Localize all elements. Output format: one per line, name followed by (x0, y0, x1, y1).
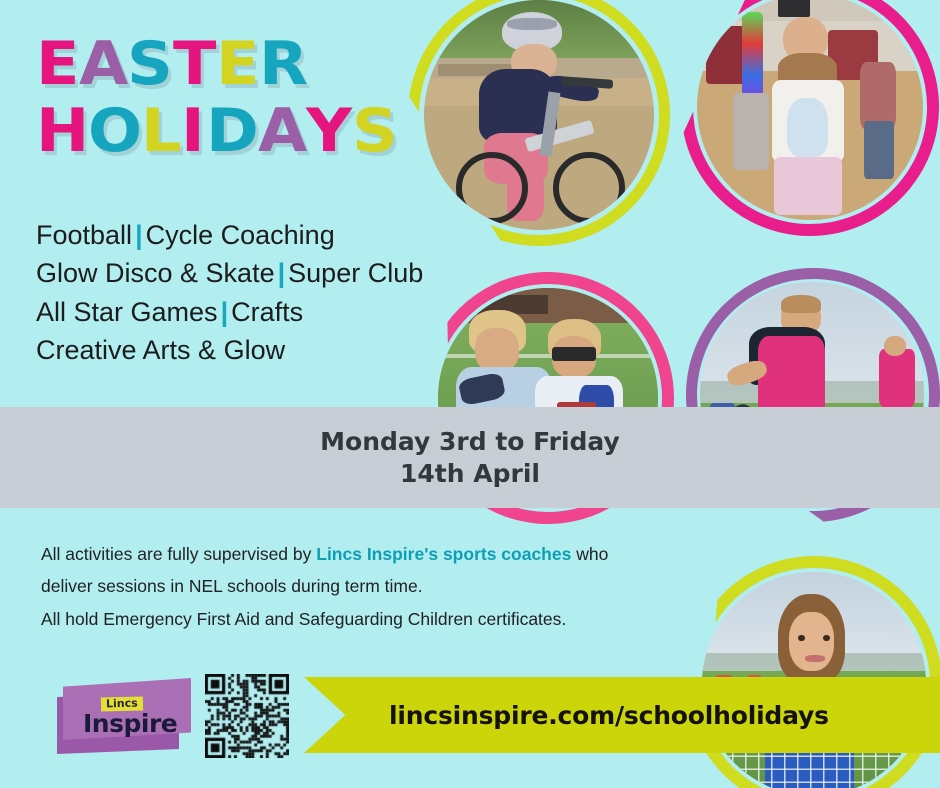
lincs-inspire-logo[interactable]: Lincs Inspire (57, 676, 192, 756)
activity-item: Football (36, 220, 132, 250)
logo-text-inspire: Inspire (83, 709, 177, 738)
date-line-2: 14th April (260, 458, 680, 490)
title-letter-r-5: R (259, 36, 310, 93)
activity-item: Crafts (231, 297, 303, 327)
activity-line-1: Football|Cycle Coaching (36, 216, 466, 254)
url-text: lincsinspire.com/schoolholidays (389, 701, 829, 730)
url-banner[interactable]: lincsinspire.com/schoolholidays (304, 677, 940, 753)
title-line-holidays: HOLIDAYS (36, 103, 416, 160)
poster-title: EASTER HOLIDAYS (36, 36, 416, 160)
activity-line-2: Glow Disco & Skate|Super Club (36, 254, 466, 292)
supervision-text: All activities are fully supervised by L… (41, 538, 681, 635)
activity-item: Cycle Coaching (146, 220, 335, 250)
activity-separator: | (275, 258, 289, 288)
title-letter-a-5: A (258, 103, 309, 160)
supervision-line-2: deliver sessions in NEL schools during t… (41, 570, 681, 602)
qr-code[interactable] (205, 674, 289, 758)
activity-item: All Star Games (36, 297, 218, 327)
activity-line-4: Creative Arts & Glow (36, 331, 466, 369)
easter-holidays-poster: EASTER HOLIDAYS Football|Cycle CoachingG… (0, 0, 940, 788)
supervision-line-1: All activities are fully supervised by L… (41, 538, 681, 570)
activity-line-3: All Star Games|Crafts (36, 293, 466, 331)
title-letter-o-1: O (88, 103, 144, 160)
activity-item: Glow Disco & Skate (36, 258, 275, 288)
title-letter-s-7: S (352, 103, 400, 160)
title-line-easter: EASTER (36, 36, 416, 93)
supervision-line-1-after: who (571, 544, 608, 564)
activity-separator: | (218, 297, 232, 327)
title-letter-i-3: I (181, 103, 207, 160)
photo-cycling (424, 0, 654, 230)
title-letter-h-0: H (36, 103, 91, 160)
title-letter-y-6: Y (306, 103, 354, 160)
date-band: Monday 3rd to Friday 14th April (0, 407, 940, 508)
title-letter-d-4: D (206, 103, 261, 160)
photo-glow-disco (697, 0, 923, 220)
supervision-line-1-before: All activities are fully supervised by (41, 544, 316, 564)
title-letter-a-1: A (79, 36, 130, 93)
activity-item: Creative Arts & Glow (36, 335, 285, 365)
activity-separator: | (132, 220, 146, 250)
title-letter-e-4: E (216, 36, 262, 93)
supervision-line-3: All hold Emergency First Aid and Safegua… (41, 603, 681, 635)
supervision-highlight: Lincs Inspire's sports coaches (316, 544, 571, 564)
title-letter-t-3: T (173, 36, 219, 93)
title-letter-e-0: E (36, 36, 82, 93)
activity-item: Super Club (288, 258, 423, 288)
title-letter-l-2: L (141, 103, 184, 160)
title-letter-s-2: S (127, 36, 175, 93)
date-line-1: Monday 3rd to Friday (260, 426, 680, 458)
activity-list: Football|Cycle CoachingGlow Disco & Skat… (36, 216, 466, 369)
